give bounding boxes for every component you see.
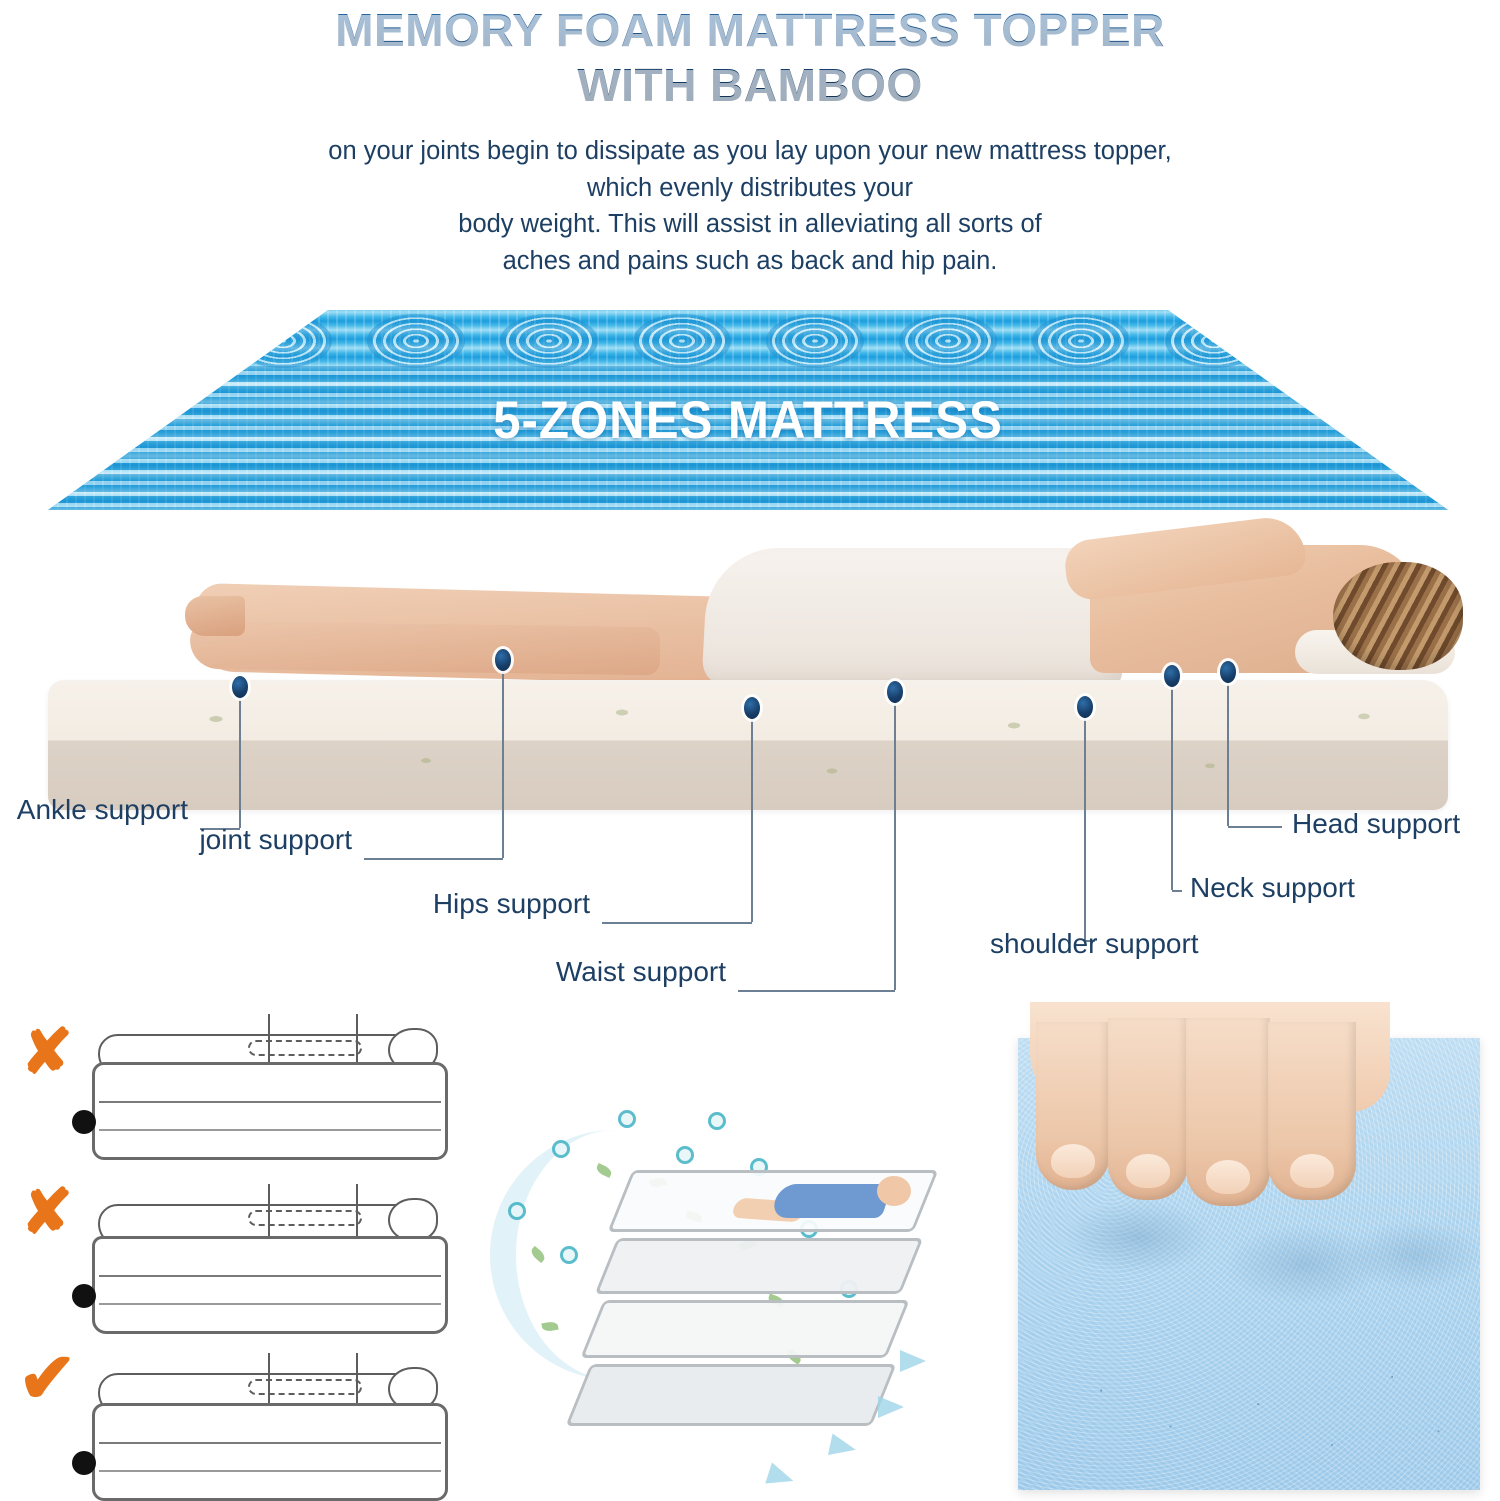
foam-press-test-photo bbox=[1018, 1038, 1480, 1490]
foam-spiral-row bbox=[48, 310, 1448, 372]
page-title: MEMORY FOAM MATTRESS TOPPER WITH BAMBOO bbox=[0, 5, 1500, 111]
callout-elbow-line bbox=[602, 922, 752, 924]
airflow-arrow-icon bbox=[900, 1350, 926, 1372]
foam-spiral-icon bbox=[234, 314, 332, 368]
callout-label-shoulder-support: shoulder support bbox=[990, 928, 1199, 960]
air-particle-icon bbox=[552, 1140, 570, 1158]
air-particle-icon bbox=[618, 1110, 636, 1128]
person-spine bbox=[248, 1040, 362, 1056]
callout-leader-line bbox=[894, 692, 896, 990]
airflow-arrow-icon bbox=[828, 1434, 858, 1461]
paragraph-line-3: body weight. This will assist in allevia… bbox=[0, 206, 1500, 243]
paragraph-line-4: aches and pains such as back and hip pai… bbox=[0, 243, 1500, 280]
support-callouts: Ankle supportjoint supportHips supportWa… bbox=[0, 520, 1500, 1030]
reference-dot bbox=[72, 1451, 96, 1475]
callout-leader-line bbox=[1171, 676, 1173, 890]
callout-leader-line bbox=[502, 660, 504, 858]
fingernail bbox=[1290, 1154, 1334, 1188]
air-particle-icon bbox=[508, 1202, 526, 1220]
mattress-outline-flat bbox=[92, 1062, 448, 1160]
foam-spiral-icon bbox=[899, 314, 997, 368]
illustrated-sleeper bbox=[775, 1166, 925, 1228]
callout-elbow-line bbox=[738, 990, 895, 992]
spine-alignment-comparison: ✘ ✘ bbox=[10, 1020, 470, 1495]
header-block: MEMORY FOAM MATTRESS TOPPER WITH BAMBOO … bbox=[0, 0, 1500, 280]
callout-leader-line bbox=[239, 687, 241, 828]
title-line-2: WITH BAMBOO bbox=[0, 60, 1500, 112]
foam-spiral-icon bbox=[367, 314, 465, 368]
hand-finger bbox=[1268, 1022, 1356, 1200]
comparison-row-incorrect-2: ✘ bbox=[10, 1180, 470, 1330]
mattress-outline-sagging bbox=[92, 1236, 448, 1334]
comparison-row-correct: ✔ bbox=[10, 1345, 470, 1495]
callout-label-joint-support: joint support bbox=[199, 824, 352, 856]
callout-leader-line bbox=[1227, 672, 1229, 826]
callout-label-head-support: Head support bbox=[1292, 808, 1460, 840]
mattress-outline-supportive bbox=[92, 1403, 448, 1501]
mattress-layer-base bbox=[565, 1364, 896, 1426]
x-mark-icon: ✘ bbox=[18, 1026, 76, 1086]
blue-foam-topper-section: 5-ZONES MATTRESS bbox=[0, 300, 1500, 520]
hand-finger bbox=[1036, 1022, 1110, 1190]
person-spine bbox=[248, 1379, 362, 1395]
reference-dot bbox=[72, 1284, 96, 1308]
mattress-layer-second bbox=[595, 1238, 924, 1294]
hand-pressing-foam bbox=[1030, 1042, 1390, 1232]
fingernail bbox=[1051, 1144, 1095, 1178]
zones-overlay-text: 5-ZONES MATTRESS bbox=[97, 390, 1399, 451]
foam-spiral-icon bbox=[500, 314, 598, 368]
foam-spiral-icon bbox=[1165, 314, 1263, 368]
callout-label-neck-support: Neck support bbox=[1190, 872, 1355, 904]
x-mark-icon: ✘ bbox=[18, 1186, 76, 1246]
breathability-illustration bbox=[500, 1100, 1000, 1495]
hand-finger bbox=[1108, 1018, 1188, 1200]
callout-leader-line bbox=[1084, 707, 1086, 940]
callout-dot bbox=[232, 676, 248, 698]
callout-label-waist-support: Waist support bbox=[556, 956, 726, 988]
callout-dot bbox=[744, 697, 760, 719]
person-spine bbox=[248, 1210, 362, 1226]
callout-dot bbox=[495, 649, 511, 671]
fingernail bbox=[1206, 1160, 1250, 1194]
check-mark-icon: ✔ bbox=[18, 1351, 76, 1411]
mattress-layer-third bbox=[580, 1300, 909, 1358]
foam-spiral-icon bbox=[766, 314, 864, 368]
callout-dot bbox=[1220, 661, 1236, 683]
callout-elbow-line bbox=[364, 858, 503, 860]
airflow-arrow-icon bbox=[765, 1463, 797, 1492]
callout-elbow-line bbox=[1228, 826, 1282, 828]
bottom-panels: ✘ ✘ bbox=[0, 1020, 1500, 1495]
air-particle-icon bbox=[708, 1112, 726, 1130]
callout-label-ankle-support: Ankle support bbox=[17, 794, 188, 826]
fingernail bbox=[1126, 1154, 1170, 1188]
paragraph-line-1: on your joints begin to dissipate as you… bbox=[0, 133, 1500, 170]
callout-dot bbox=[1077, 696, 1093, 718]
sleeper-head bbox=[877, 1176, 911, 1206]
description-paragraph: on your joints begin to dissipate as you… bbox=[0, 133, 1500, 280]
callout-leader-line bbox=[751, 708, 753, 922]
callout-elbow-line bbox=[1172, 890, 1182, 892]
reference-dot bbox=[72, 1110, 96, 1134]
comparison-row-incorrect-1: ✘ bbox=[10, 1020, 470, 1170]
infographic-root: MEMORY FOAM MATTRESS TOPPER WITH BAMBOO … bbox=[0, 0, 1500, 1495]
foam-spiral-icon bbox=[633, 314, 731, 368]
paragraph-line-2: which evenly distributes your bbox=[0, 170, 1500, 207]
airflow-arrow-icon bbox=[878, 1396, 904, 1418]
foam-spiral-icon bbox=[1032, 314, 1130, 368]
title-line-1: MEMORY FOAM MATTRESS TOPPER bbox=[0, 5, 1500, 57]
callout-label-hips-support: Hips support bbox=[433, 888, 590, 920]
callout-dot bbox=[1164, 665, 1180, 687]
sleeper-body bbox=[769, 1184, 892, 1218]
hand-finger bbox=[1186, 1018, 1270, 1206]
blue-foam-topper-image: 5-ZONES MATTRESS bbox=[48, 310, 1448, 510]
callout-dot bbox=[887, 681, 903, 703]
